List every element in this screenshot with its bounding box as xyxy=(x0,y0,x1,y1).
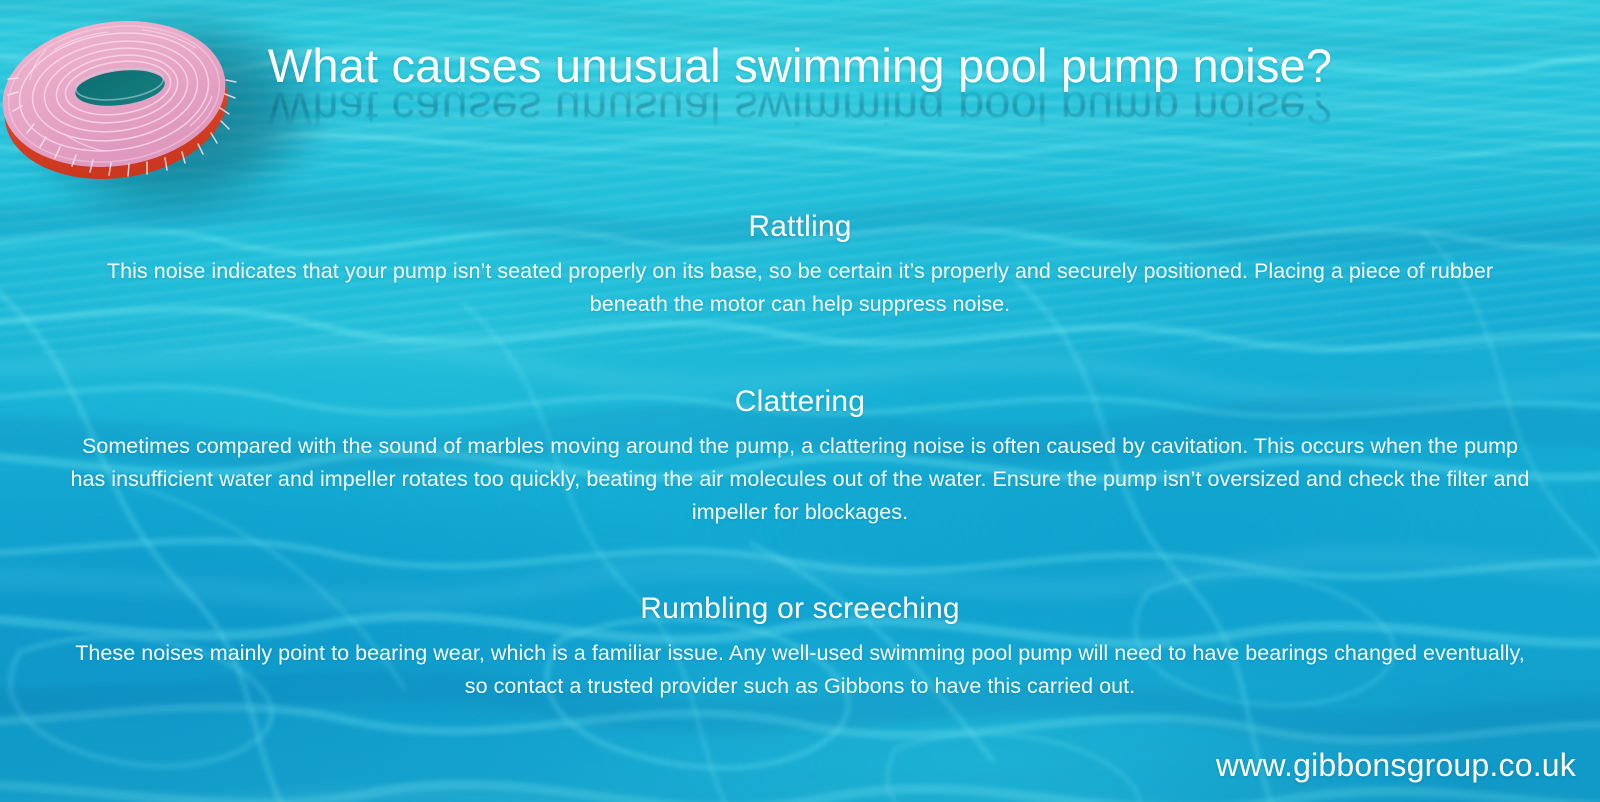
page-title: What causes unusual swimming pool pump n… xyxy=(0,42,1600,90)
poster-canvas: What causes unusual swimming pool pump n… xyxy=(0,0,1600,802)
poster-content: What causes unusual swimming pool pump n… xyxy=(0,0,1600,802)
section-rumbling-or-screeching: Rumbling or screeching These noises main… xyxy=(66,590,1534,703)
section-heading: Rattling xyxy=(66,208,1534,246)
section-heading: Rumbling or screeching xyxy=(66,590,1534,628)
section-body: These noises mainly point to bearing wea… xyxy=(66,637,1534,704)
section-rattling: Rattling This noise indicates that your … xyxy=(66,208,1534,321)
title-block: What causes unusual swimming pool pump n… xyxy=(0,42,1600,132)
page-title-reflection: What causes unusual swimming pool pump n… xyxy=(0,84,1600,132)
section-clattering: Clattering Sometimes compared with the s… xyxy=(66,383,1534,529)
footer-website-url[interactable]: www.gibbonsgroup.co.uk xyxy=(1216,747,1576,784)
section-heading: Clattering xyxy=(66,383,1534,421)
section-body: This noise indicates that your pump isn’… xyxy=(66,255,1534,322)
section-body: Sometimes compared with the sound of mar… xyxy=(66,430,1534,530)
